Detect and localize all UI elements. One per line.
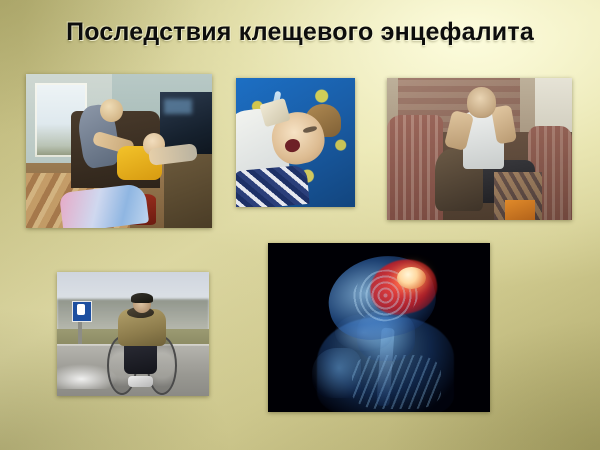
page-title: Последствия клещевого энцефалита — [0, 18, 600, 47]
patterned-blanket — [236, 165, 309, 207]
photo-brain-scan — [268, 243, 490, 412]
rib-structures — [352, 355, 441, 409]
room-tv-glow — [164, 99, 192, 114]
photo-wheelchair-man — [57, 272, 209, 396]
photo-brain-scan-scene — [268, 243, 490, 412]
brain-lesion — [397, 267, 426, 289]
accessibility-sign-glyph — [77, 304, 85, 315]
wheelchair-seat — [124, 341, 157, 373]
room-armchair — [164, 154, 212, 228]
caregiver-head — [100, 99, 122, 122]
photo-thin-patient-sofa-scene — [387, 78, 572, 220]
patient-head — [467, 87, 497, 118]
photo-caregiver-child-scene — [26, 74, 212, 228]
photo-wheelchair-man-scene — [57, 272, 209, 396]
photo-caregiver-child — [26, 74, 212, 228]
photo-thin-patient-sofa — [387, 78, 572, 220]
man-feet — [128, 376, 152, 387]
photo-child-in-bed — [236, 78, 355, 207]
man-hat — [131, 293, 152, 303]
presentation-slide: Последствия клещевого энцефалита — [0, 0, 600, 450]
photo-child-in-bed-scene — [236, 78, 355, 207]
orange-fabric — [505, 200, 535, 220]
